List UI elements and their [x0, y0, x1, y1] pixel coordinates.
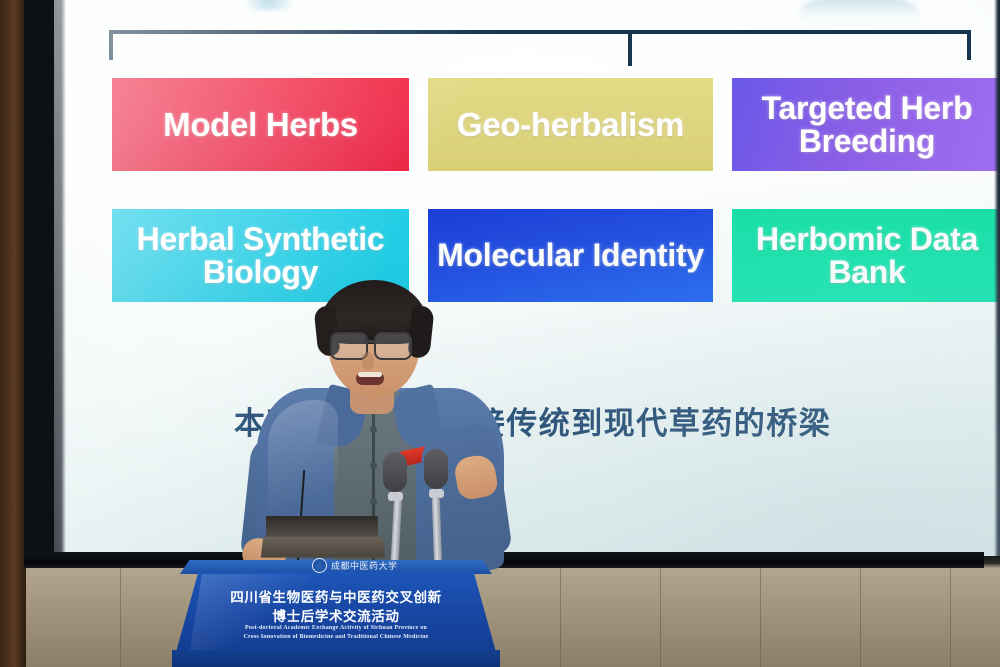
- lectern-title-en-line1: Post-doctoral Academic Exchange Activity…: [176, 625, 496, 631]
- screen-inner-edge-right: [994, 0, 1000, 558]
- wall-panel-seam: [120, 566, 121, 667]
- wall-left-post: [0, 0, 26, 667]
- lectern-title-cn-line2: 博士后学术交流活动: [176, 605, 496, 625]
- tile-geo-herbalism[interactable]: Geo-herbalism: [428, 78, 713, 171]
- wall-panel-seam: [760, 566, 761, 667]
- slide-tile-grid: Model Herbs Geo-herbalism Targeted Herb …: [112, 78, 952, 302]
- microphone-capsule: [383, 452, 407, 492]
- speaker-shirt-button: [370, 498, 377, 505]
- wall-panel-seam: [660, 566, 661, 667]
- screen-inner-edge-left: [54, 0, 66, 558]
- wall-panel-seam: [950, 566, 951, 667]
- slide-decoration-icon: [234, 0, 304, 10]
- presenter-laptop: [261, 537, 385, 558]
- tile-model-herbs[interactable]: Model Herbs: [112, 78, 409, 171]
- presentation-slide: Model Herbs Geo-herbalism Targeted Herb …: [54, 0, 1000, 558]
- speaker-shirt-button: [370, 426, 377, 433]
- wall-panel-seam: [860, 566, 861, 667]
- lectern-base: [172, 650, 500, 667]
- tile-targeted-herb-breeding[interactable]: Targeted Herb Breeding: [732, 78, 1000, 171]
- lectern-logo-label: 成都中医药大学: [331, 559, 398, 572]
- lectern-title-cn-line1: 四川省生物医药与中医药交叉创新: [176, 586, 496, 606]
- projector-screen: Model Herbs Geo-herbalism Targeted Herb …: [54, 0, 1000, 558]
- lectern-logo: 成都中医药大学: [312, 556, 400, 574]
- microphone-capsule: [424, 449, 448, 489]
- slide-bracket-stem: [628, 34, 632, 66]
- tile-herbomic-data-bank[interactable]: Herbomic Data Bank: [732, 209, 1000, 302]
- slide-bracket-graphic: [109, 30, 971, 60]
- wall-lower-panels: [0, 560, 1000, 667]
- speaker-nose: [362, 352, 374, 370]
- presentation-photo: Model Herbs Geo-herbalism Targeted Herb …: [0, 0, 1000, 667]
- lectern: 成都中医药大学 四川省生物医药与中医药交叉创新 博士后学术交流活动 Post-d…: [176, 560, 496, 667]
- lectern-title-en-line2: Cross Innovation of Biomedicine and Trad…: [176, 634, 496, 640]
- university-emblem-icon: [312, 558, 327, 573]
- presenter-laptop-screen: [266, 516, 378, 538]
- speaker-teeth: [358, 372, 382, 377]
- speaker-shirt-button: [370, 462, 377, 469]
- speaker-glasses-bridge: [364, 340, 376, 343]
- speaker-glasses-right-lens: [374, 332, 412, 360]
- slide-decoration-icon: [799, 0, 919, 30]
- wall-panel-seam: [560, 566, 561, 667]
